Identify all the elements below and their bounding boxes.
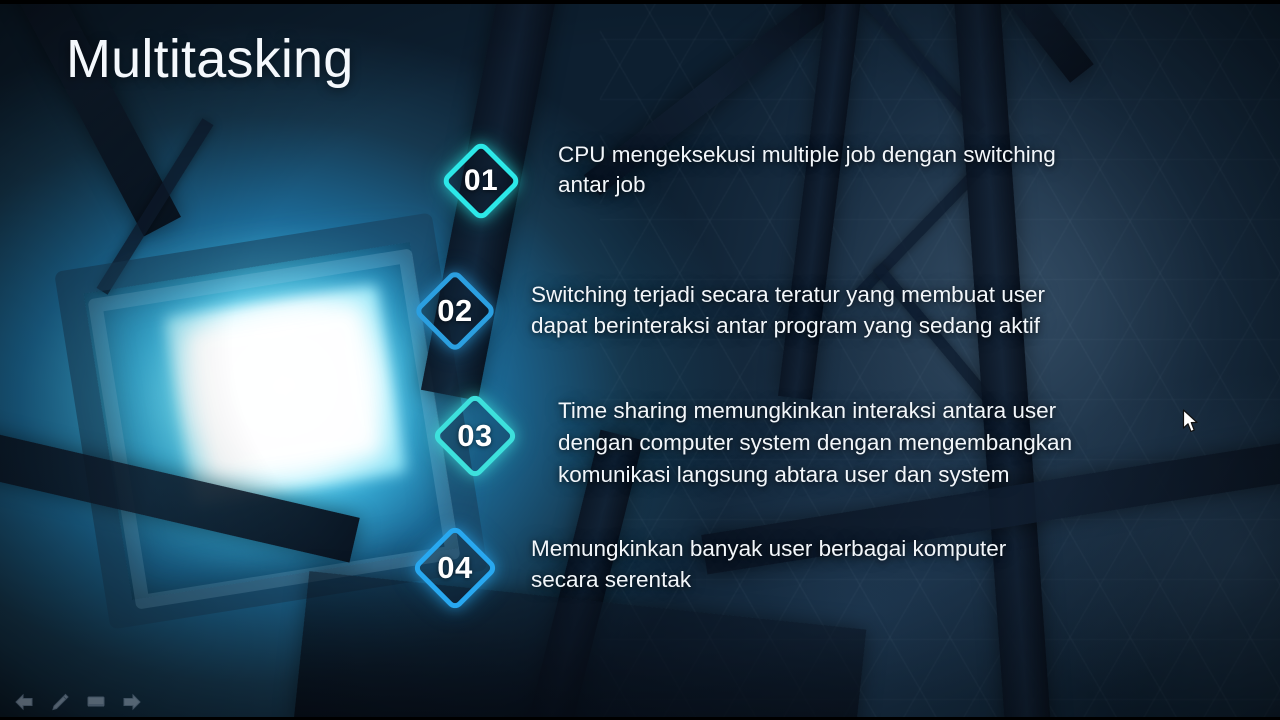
slide-options-button[interactable] [82, 690, 110, 714]
bullet-list: 01 CPU mengeksekusi multiple job dengan … [0, 0, 1280, 720]
bullet-number: 01 [450, 155, 512, 207]
presenter-toolbar[interactable] [10, 690, 146, 714]
bullet-text: Switching terjadi secara teratur yang me… [531, 279, 1161, 341]
next-slide-button[interactable] [118, 690, 146, 714]
bullet-number: 04 [422, 540, 488, 596]
pen-icon [50, 693, 70, 711]
bullet-text: Time sharing memungkinkan interaksi anta… [558, 395, 1183, 491]
arrow-right-icon [122, 693, 142, 711]
bullet-number: 03 [442, 408, 508, 464]
previous-slide-button[interactable] [10, 690, 38, 714]
letterbox-top [0, 0, 1280, 4]
slide-menu-icon [86, 693, 106, 711]
bullet-number: 02 [423, 284, 487, 338]
bullet-text: Memungkinkan banyak user berbagai komput… [531, 533, 1131, 595]
bullet-text: CPU mengeksekusi multiple job dengan swi… [558, 140, 1178, 200]
presentation-slide: Multitasking 01 CPU mengeksekusi multipl… [0, 0, 1280, 720]
arrow-left-icon [14, 693, 34, 711]
pen-tool-button[interactable] [46, 690, 74, 714]
slide-content: Multitasking 01 CPU mengeksekusi multipl… [0, 0, 1280, 720]
